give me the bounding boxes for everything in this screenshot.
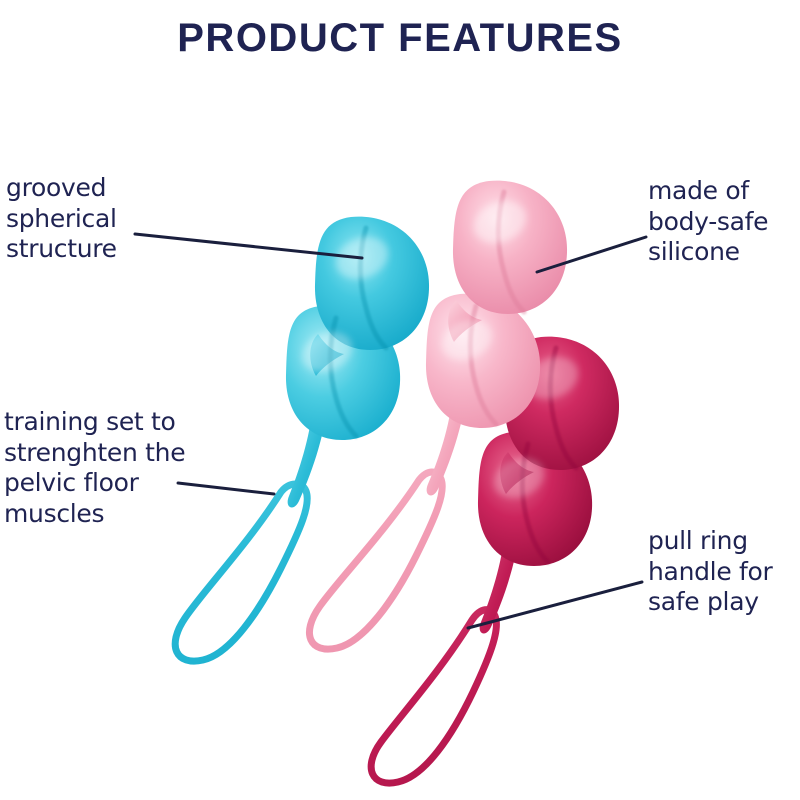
pink-pull-ring <box>309 472 442 649</box>
product-features-infographic: PRODUCT FEATURES grooved spherical struc… <box>0 0 800 800</box>
teal-pull-ring <box>175 484 307 661</box>
magenta-pull-ring <box>371 610 496 783</box>
callout-pull-ring-handle-safe-play: pull ring handle for safe play <box>648 526 773 618</box>
callout-made-of-body-safe-silicone: made of body-safe silicone <box>648 176 768 268</box>
page-title: PRODUCT FEATURES <box>0 16 800 61</box>
callout-training-set-strengthen-pelvic-floor: training set to strenghten the pelvic fl… <box>4 407 185 529</box>
callout-grooved-spherical-structure: grooved spherical structure <box>6 173 117 265</box>
leader-line-training <box>178 483 274 494</box>
product-illustration <box>0 0 800 800</box>
